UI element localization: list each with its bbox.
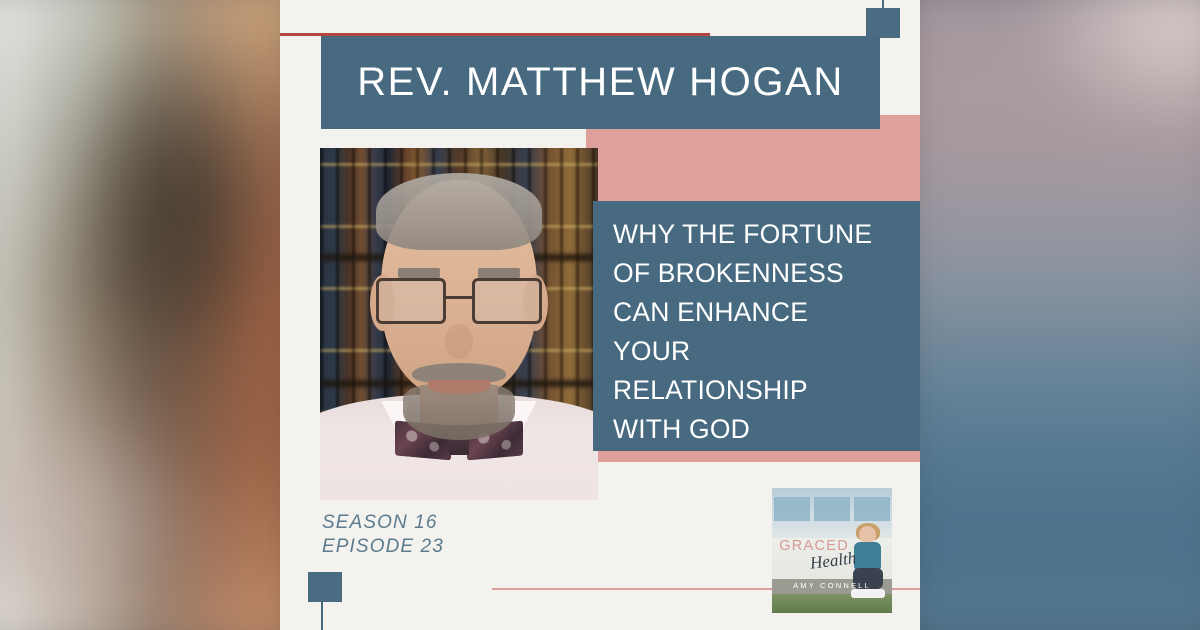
guest-nose xyxy=(445,324,473,359)
guest-name-banner: REV. MATTHEW HOGAN xyxy=(321,36,880,129)
episode-title-line: WITH GOD xyxy=(613,410,920,449)
eyeglass-bridge xyxy=(446,296,473,299)
episode-title-line: RELATIONSHIP xyxy=(613,371,920,410)
episode-title-text: WHY THE FORTUNE OF BROKENNESS CAN ENHANC… xyxy=(613,215,920,449)
episode-title-line: WHY THE FORTUNE xyxy=(613,215,920,254)
guest-eyebrow-right xyxy=(478,268,520,279)
guest-hair xyxy=(376,173,543,250)
logo-host-torso xyxy=(854,542,881,570)
episode-title-line: OF BROKENNESS xyxy=(613,254,920,293)
blurred-photo-border-left xyxy=(0,0,320,630)
logo-host-name: AMY CONNELL xyxy=(772,581,892,590)
podcast-episode-cover: REV. MATTHEW HOGAN WHY THE FORTUNE OF BR… xyxy=(0,0,1200,630)
episode-label: EPISODE 23 xyxy=(322,535,444,559)
pin-stem xyxy=(321,602,323,630)
guest-name-text: REV. MATTHEW HOGAN xyxy=(357,60,844,105)
pin-square xyxy=(866,8,900,38)
podcast-logo-thumbnail: GRACED Health AMY CONNELL xyxy=(772,488,892,613)
eyeglasses-icon xyxy=(376,278,543,324)
eyeglass-lens-left xyxy=(376,278,446,324)
logo-window-pane xyxy=(814,497,849,521)
episode-title-line: CAN ENHANCE xyxy=(613,293,920,332)
guest-eyebrow-left xyxy=(398,268,440,279)
season-label: SEASON 16 xyxy=(322,511,444,535)
season-episode-info: SEASON 16 EPISODE 23 xyxy=(322,511,444,559)
blurred-photo-border-right xyxy=(880,0,1200,630)
episode-title-line: YOUR xyxy=(613,332,920,371)
guest-photo xyxy=(320,148,598,500)
logo-window-pane xyxy=(774,497,809,521)
logo-host-shoes xyxy=(851,589,885,598)
cover-card: REV. MATTHEW HOGAN WHY THE FORTUNE OF BR… xyxy=(280,0,920,630)
eyeglass-lens-right xyxy=(472,278,542,324)
logo-window-pane xyxy=(854,497,889,521)
pin-square xyxy=(308,572,342,602)
episode-title-banner: WHY THE FORTUNE OF BROKENNESS CAN ENHANC… xyxy=(593,201,920,451)
logo-windows xyxy=(774,497,889,521)
